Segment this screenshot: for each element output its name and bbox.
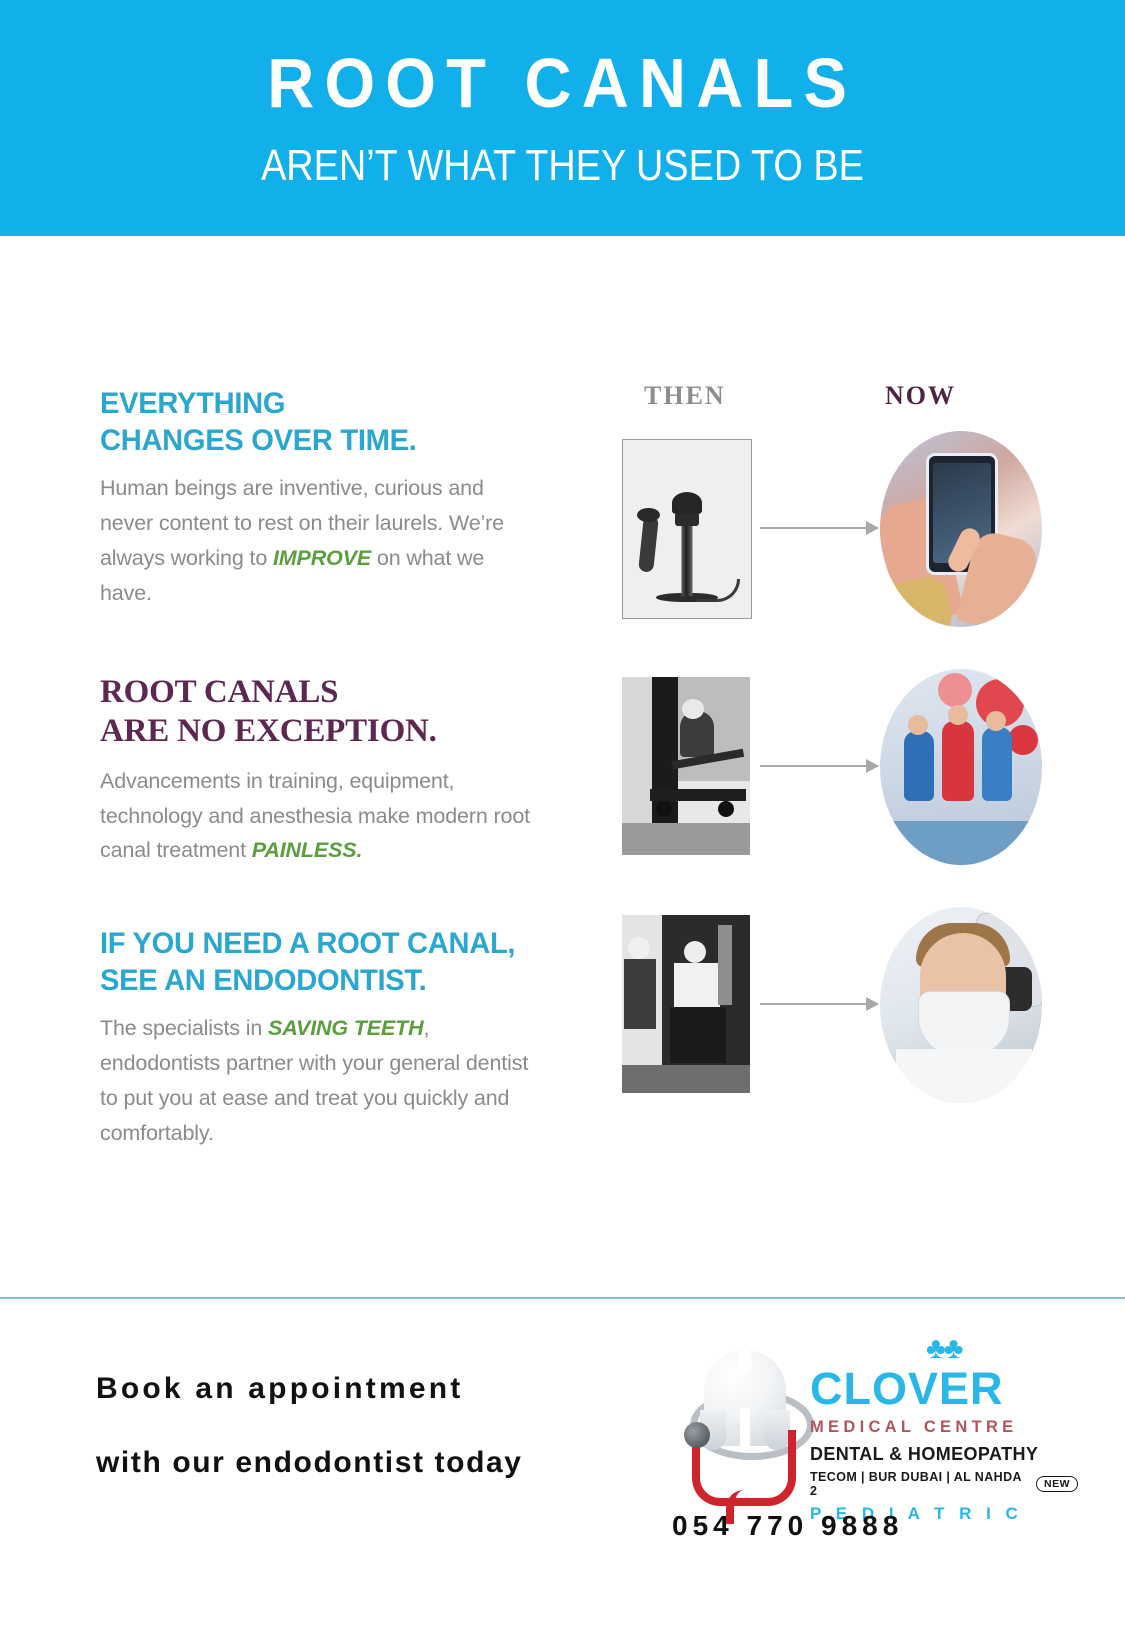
telephone-earpiece-icon — [638, 515, 659, 572]
hands-holding-smartphone-photo — [880, 431, 1042, 627]
logo-text-block: ♣♣ CLOVER MEDICAL CENTRE DENTAL & HOMEOP… — [810, 1338, 1078, 1524]
section-2-heading-line-1: ROOT CANALS — [100, 673, 530, 713]
participant-head-3 — [986, 711, 1006, 731]
section-3-heading-line-1: IF YOU NEED A ROOT CANAL, — [100, 926, 517, 963]
tooth-notch-shape — [738, 1348, 752, 1374]
participant-blue-2 — [982, 727, 1012, 801]
surgical-mask-shape — [918, 991, 1010, 1057]
logo-subtitle: MEDICAL CENTRE — [810, 1418, 1078, 1437]
section-2-body: Advancements in training, equipment, tec… — [100, 764, 530, 868]
tooth-with-stethoscope-icon — [680, 1346, 810, 1496]
photo-patient-head — [684, 941, 706, 963]
photo-patient-bib — [674, 963, 720, 1007]
participant-red — [942, 721, 974, 801]
photo-person-head — [682, 699, 704, 719]
logo-branches-row: TECOM | BUR DUBAI | AL NAHDA 2 NEW — [810, 1470, 1078, 1498]
spacer-2 — [100, 896, 530, 926]
call-to-action: Book an appointment with our endodontist… — [96, 1374, 616, 1478]
contact-phone-number[interactable]: 054 770 9888 — [672, 1510, 903, 1542]
photo-dental-chair — [670, 1007, 726, 1063]
logo-brand-name: CLOVER — [810, 1366, 1078, 1411]
logo-branches: TECOM | BUR DUBAI | AL NAHDA 2 — [810, 1470, 1030, 1498]
section-root-canals-no-exception: ROOT CANALS ARE NO EXCEPTION. Advancemen… — [100, 673, 530, 869]
group-fitness-class-photo — [880, 669, 1042, 865]
section-1-highlight: IMPROVE — [273, 546, 371, 570]
section-2-heading: ROOT CANALS ARE NO EXCEPTION. — [100, 673, 530, 752]
clinician-coat-shape — [896, 1049, 1032, 1103]
comparison-row-2 — [600, 677, 1040, 897]
spacer-1 — [100, 639, 530, 673]
telephone-collar-icon — [675, 512, 699, 526]
comparison-row-1 — [600, 439, 1040, 659]
section-3-heading: IF YOU NEED A ROOT CANAL, SEE AN ENDODON… — [100, 926, 517, 999]
telephone-mouthpiece-icon — [672, 492, 702, 514]
vintage-dental-chair-photo — [622, 915, 750, 1093]
bw-photo-backdrop-2 — [622, 915, 750, 1093]
photo-chair-lamp-arm — [718, 925, 732, 1005]
photo-machine-wheel-right — [718, 801, 734, 817]
participant-blue — [904, 731, 934, 801]
section-1-body: Human beings are inventive, curious and … — [100, 471, 530, 610]
poster-header: ROOT CANALS AREN’T WHAT THEY USED TO BE — [0, 0, 1125, 236]
footer-divider — [0, 1297, 1125, 1299]
photo-assistant-head — [628, 937, 650, 959]
cta-line-2: with our endodontist today — [96, 1448, 616, 1478]
clover-leaf-icon: ♣♣ — [926, 1334, 966, 1368]
section-2-heading-line-2: ARE NO EXCEPTION. — [100, 712, 530, 752]
exercise-ball-red-2 — [1008, 725, 1038, 755]
arrow-right-icon-2 — [760, 765, 878, 767]
photo-machine-frame — [650, 789, 746, 801]
section-1-heading-line-2: CHANGES OVER TIME. — [100, 423, 517, 460]
then-label: THEN — [644, 381, 726, 411]
section-1-heading-line-1: EVERYTHING — [100, 386, 517, 423]
modern-endodontist-with-microscope-photo — [880, 907, 1042, 1103]
then-now-column: THEN NOW — [600, 381, 1040, 1135]
exercise-ball-pink — [938, 673, 972, 707]
logo-services: DENTAL & HOMEOPATHY — [810, 1444, 1078, 1465]
telephone-cord-icon — [697, 579, 740, 602]
cta-line-1: Book an appointment — [96, 1374, 616, 1404]
poster-body: EVERYTHING CHANGES OVER TIME. Human bein… — [0, 236, 1125, 1296]
telephone-stem-icon — [682, 518, 693, 596]
section-3-heading-line-2: SEE AN ENDODONTIST. — [100, 963, 517, 1000]
candlestick-telephone-photo — [622, 439, 752, 619]
now-label: NOW — [885, 381, 956, 411]
section-see-an-endodontist: IF YOU NEED A ROOT CANAL, SEE AN ENDODON… — [100, 926, 530, 1151]
photo-floor — [622, 823, 750, 855]
arrow-right-icon-3 — [760, 1003, 878, 1005]
section-3-body: The specialists in SAVING TEETH, endodon… — [100, 1011, 530, 1150]
comparison-row-3 — [600, 915, 1040, 1135]
poster-footer: Book an appointment with our endodontist… — [0, 1300, 1125, 1650]
new-badge: NEW — [1036, 1476, 1078, 1492]
section-1-heading: EVERYTHING CHANGES OVER TIME. — [100, 386, 517, 459]
bw-photo-backdrop — [622, 677, 750, 855]
vintage-exercise-machine-photo — [622, 677, 750, 855]
participant-head-2 — [948, 705, 968, 725]
participant-head-1 — [908, 715, 928, 735]
photo-assistant-body — [624, 959, 656, 1029]
text-column: EVERYTHING CHANGES OVER TIME. Human bein… — [100, 386, 530, 1179]
studio-floor — [880, 821, 1042, 865]
section-3-highlight: SAVING TEETH — [268, 1016, 423, 1040]
stethoscope-chestpiece-icon — [684, 1422, 710, 1448]
then-now-headers: THEN NOW — [600, 381, 1040, 421]
section-3-body-before: The specialists in — [100, 1016, 268, 1040]
arrow-right-icon-1 — [760, 527, 878, 529]
clover-medical-centre-logo: ♣♣ CLOVER MEDICAL CENTRE DENTAL & HOMEOP… — [660, 1334, 1080, 1544]
photo-machine-wheel-left — [656, 801, 672, 817]
section-everything-changes: EVERYTHING CHANGES OVER TIME. Human bein… — [100, 386, 530, 611]
section-2-highlight: PAINLESS. — [252, 838, 363, 862]
poster-subtitle: AREN’T WHAT THEY USED TO BE — [261, 144, 864, 188]
photo-floor-2 — [622, 1065, 750, 1093]
telephone-hook-icon — [637, 508, 660, 522]
poster-title: ROOT CANALS — [268, 48, 858, 118]
